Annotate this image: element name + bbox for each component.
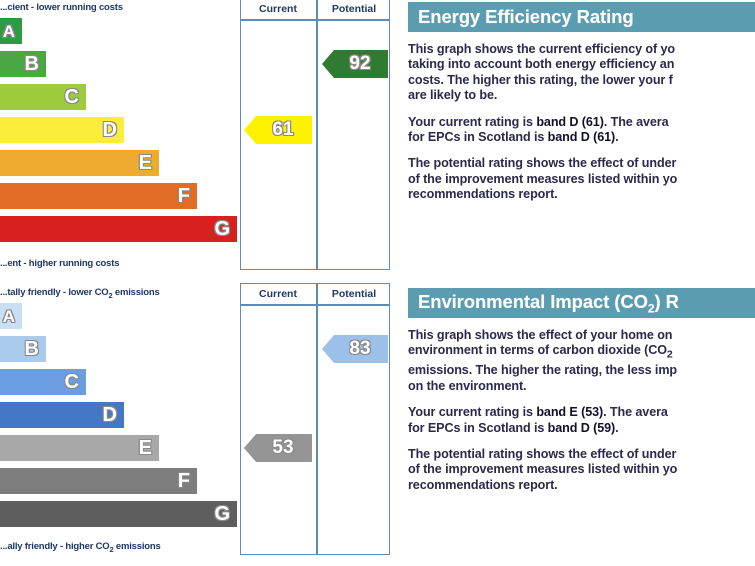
energy-band-c: C — [0, 83, 86, 111]
energy-band-label-b: B — [25, 54, 46, 74]
energy-panel-body: This graph shows the current efficiency … — [408, 32, 755, 203]
energy-paragraph-1: This graph shows the current efficiency … — [408, 42, 755, 104]
energy-scale-bottom-caption: ...ent - higher running costs — [0, 258, 240, 269]
energy-band-label-a: A — [3, 23, 22, 40]
energy-paragraph-3: The potential rating shows the effect of… — [408, 156, 755, 202]
co2-paragraph-2: Your current rating is band E (53). The … — [408, 405, 755, 436]
co2-panel-body: This graph shows the effect of your home… — [408, 318, 755, 493]
energy-band-label-f: F — [178, 186, 197, 206]
energy-band-label-g: G — [214, 219, 237, 239]
energy-band-bars: ABCDEFG — [0, 17, 240, 249]
co2-impact-chart: ...tally friendly - lower CO2 emissions … — [0, 283, 395, 563]
energy-panel-header: Energy Efficiency Rating — [408, 2, 755, 32]
energy-efficiency-text-panel: Energy Efficiency Rating This graph show… — [408, 2, 755, 214]
co2-band-label-e: E — [139, 438, 159, 458]
co2-current-header: Current — [240, 284, 316, 304]
co2-potential-header: Potential — [318, 284, 390, 304]
co2-table-header-divider — [240, 304, 390, 306]
co2-current-value-arrow: 53 — [244, 434, 312, 462]
epc-report-page: ...cient - lower running costs ABCDEFG .… — [0, 0, 755, 566]
energy-band-f: F — [0, 182, 197, 210]
energy-scale-top-caption: ...cient - lower running costs — [0, 2, 240, 13]
co2-top-caption-text: ...tally friendly - lower CO2 emissions — [0, 287, 160, 298]
co2-band-label-c: C — [65, 372, 86, 392]
co2-table-column-divider — [316, 283, 318, 555]
energy-band-b: B — [0, 50, 46, 78]
co2-band-label-b: B — [25, 339, 46, 359]
co2-band-label-g: G — [214, 504, 237, 524]
co2-scale-bottom-caption: ...ally friendly - higher CO2 emissions — [0, 541, 240, 554]
co2-band-label-f: F — [178, 471, 197, 491]
co2-scale-top-caption: ...tally friendly - lower CO2 emissions — [0, 287, 240, 300]
energy-band-e: E — [0, 149, 159, 177]
energy-potential-header: Potential — [318, 0, 390, 19]
energy-band-label-d: D — [103, 120, 124, 140]
co2-table-frame — [240, 283, 390, 555]
co2-panel-header: Environmental Impact (CO2) R — [408, 288, 755, 318]
energy-band-d: D — [0, 116, 124, 144]
co2-panel-title: Environmental Impact (CO2) R — [418, 291, 679, 316]
co2-bottom-caption-text: ...ally friendly - higher CO2 emissions — [0, 541, 161, 552]
co2-band-a: A — [0, 302, 22, 330]
co2-band-g: G — [0, 500, 237, 528]
co2-impact-text-panel: Environmental Impact (CO2) R This graph … — [408, 288, 755, 504]
energy-potential-value-arrow: 92 — [322, 50, 388, 78]
co2-band-d: D — [0, 401, 124, 429]
co2-band-label-d: D — [103, 405, 124, 425]
co2-band-e: E — [0, 434, 159, 462]
co2-band-bars: ABCDEFG — [0, 302, 240, 534]
energy-panel-title: Energy Efficiency Rating — [418, 6, 634, 28]
energy-table-header-divider — [240, 19, 390, 21]
energy-band-label-e: E — [139, 153, 159, 173]
co2-band-label-a: A — [3, 308, 22, 325]
co2-paragraph-1: This graph shows the effect of your home… — [408, 328, 755, 394]
co2-band-b: B — [0, 335, 46, 363]
energy-band-g: G — [0, 215, 237, 243]
co2-paragraph-3: The potential rating shows the effect of… — [408, 447, 755, 493]
energy-table-column-divider — [316, 0, 318, 270]
energy-paragraph-2: Your current rating is band D (61). The … — [408, 115, 755, 146]
co2-band-f: F — [0, 467, 197, 495]
energy-band-a: A — [0, 17, 22, 45]
energy-current-value-arrow: 61 — [244, 116, 312, 144]
co2-band-c: C — [0, 368, 86, 396]
energy-current-header: Current — [240, 0, 316, 19]
energy-efficiency-chart: ...cient - lower running costs ABCDEFG .… — [0, 0, 395, 278]
co2-potential-value-arrow: 83 — [322, 335, 388, 363]
energy-rating-table: Current Potential 61 92 — [240, 0, 392, 276]
energy-band-label-c: C — [65, 87, 86, 107]
co2-rating-table: Current Potential 53 83 — [240, 281, 392, 561]
